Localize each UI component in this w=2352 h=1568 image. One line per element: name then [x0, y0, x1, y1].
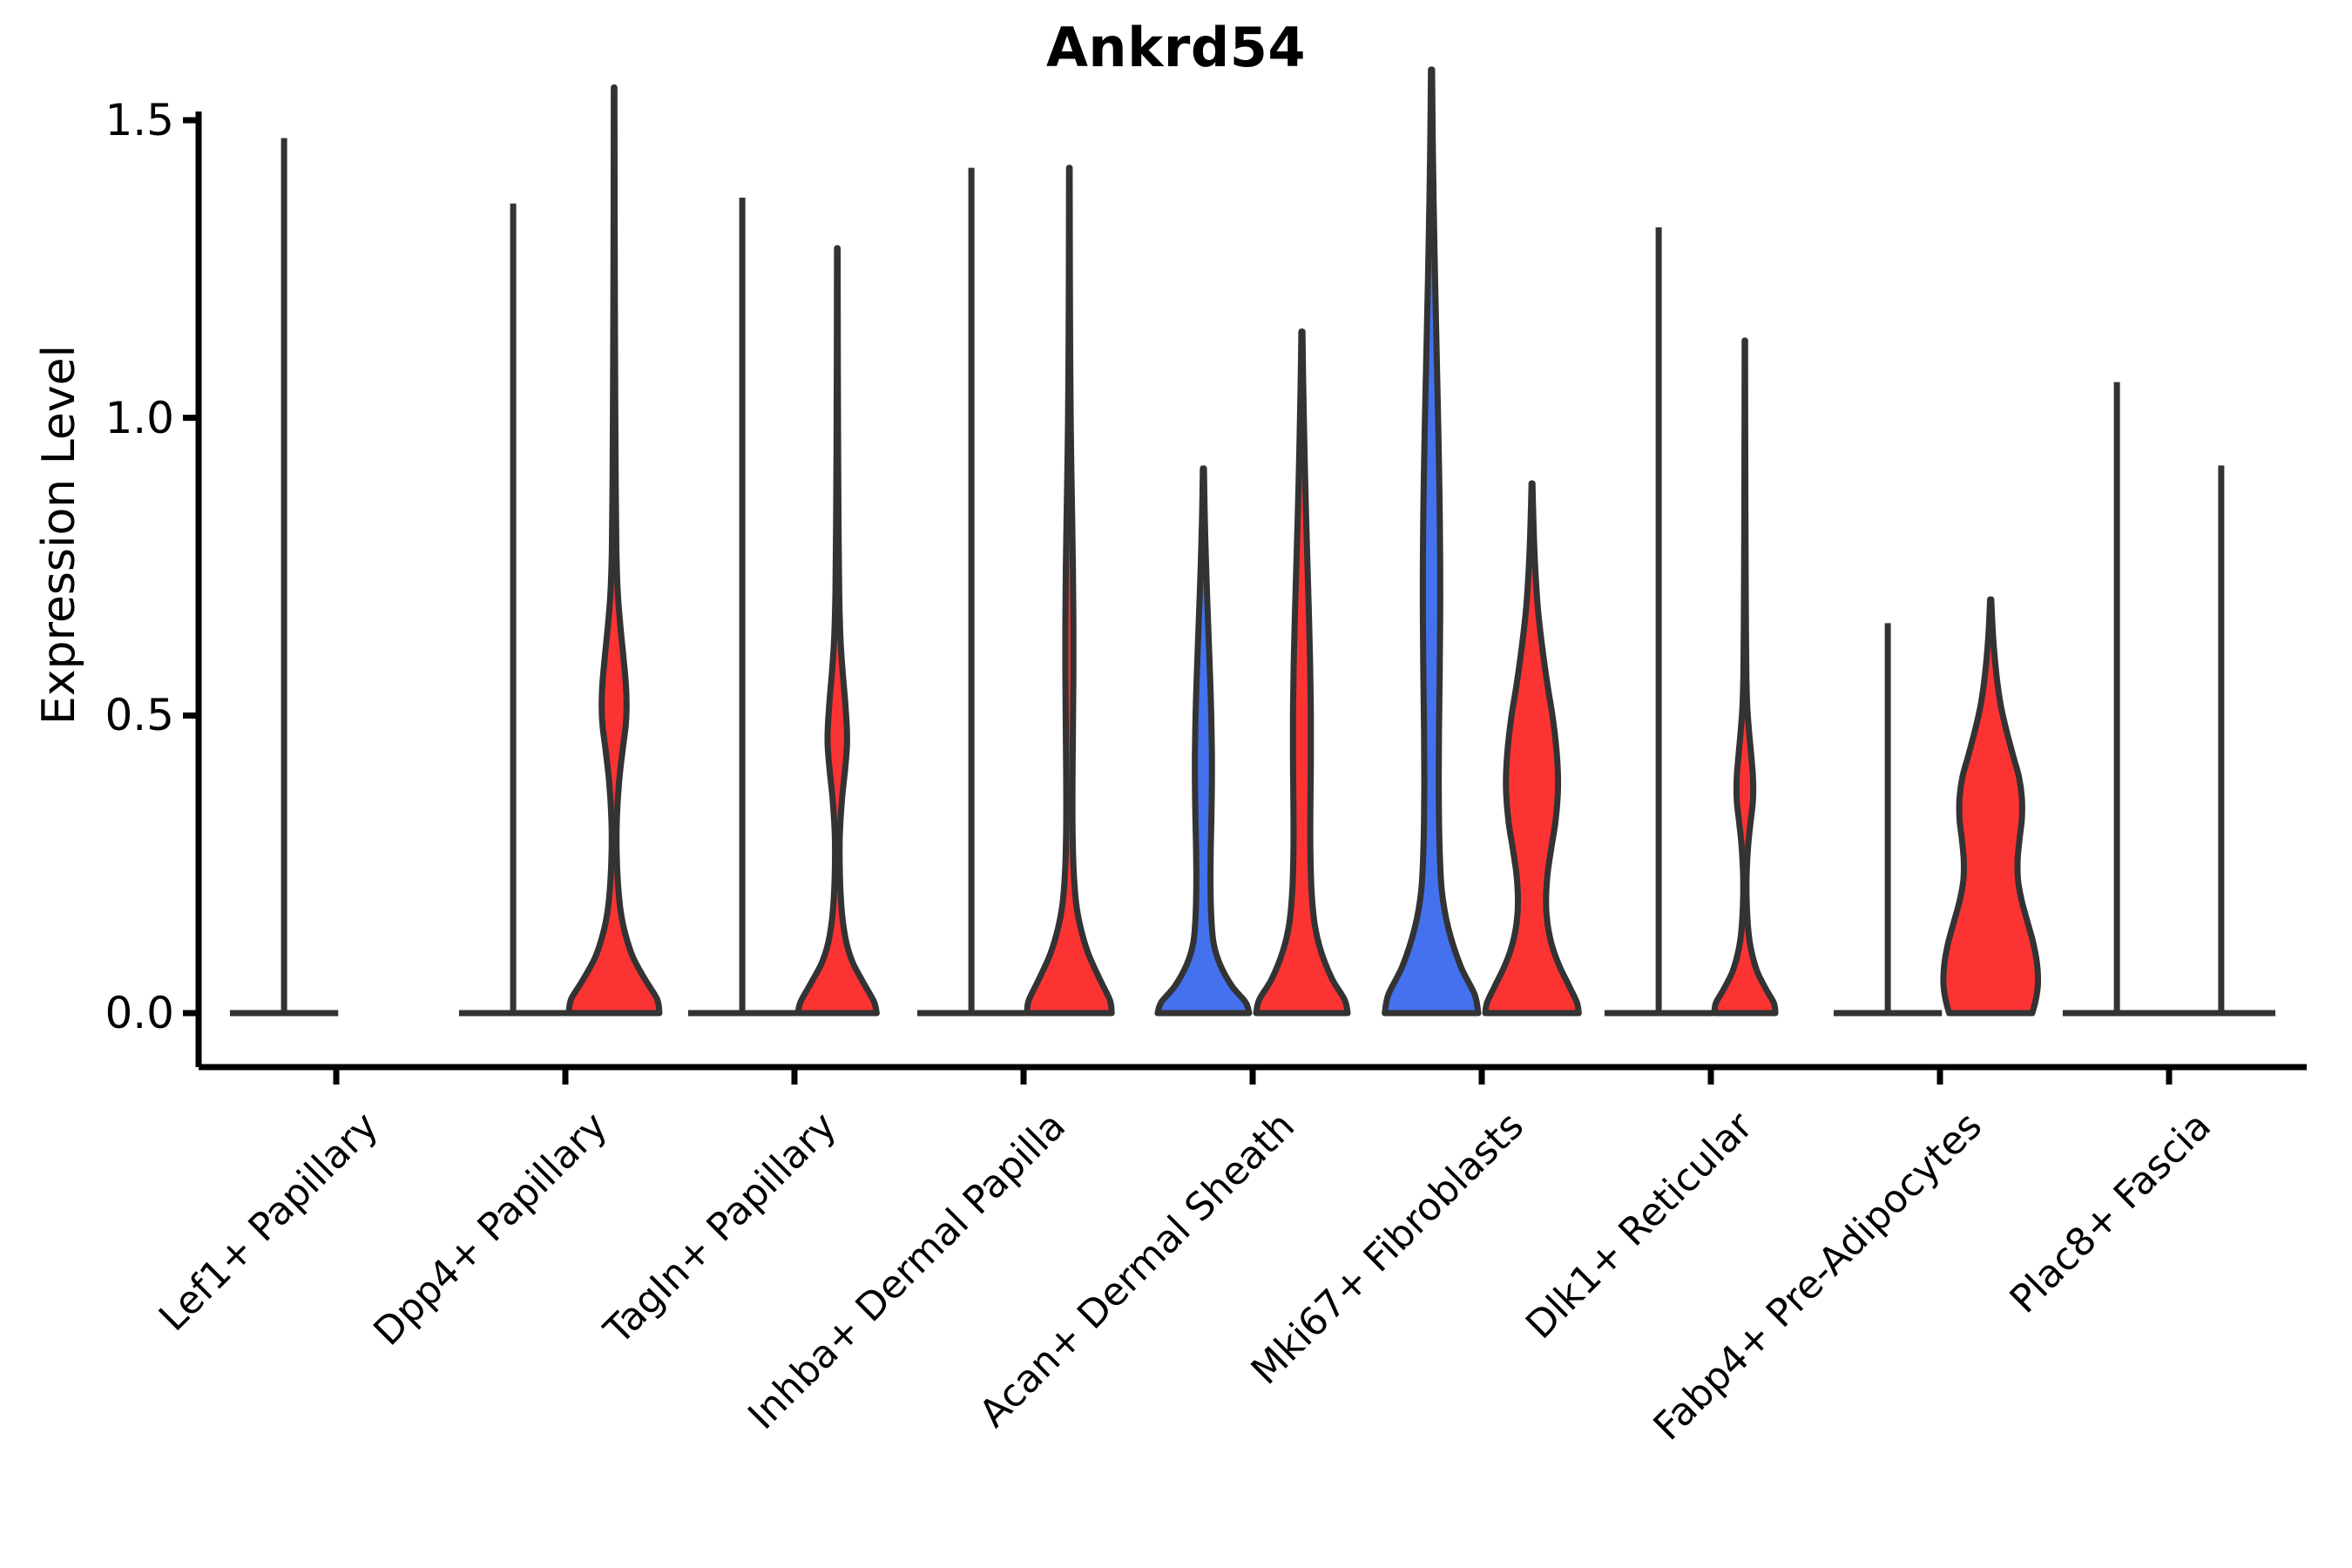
- violin-right-7: [1943, 599, 2038, 1013]
- violin-left-2: [688, 198, 796, 1013]
- violin-left-5: [1385, 70, 1478, 1013]
- violin-body: [569, 87, 659, 1013]
- violin-left-6: [1605, 227, 1713, 1013]
- violin-right-1: [569, 87, 659, 1013]
- violin-right-5: [1485, 483, 1578, 1013]
- violin-body: [1256, 332, 1348, 1013]
- violin-body: [1485, 483, 1578, 1013]
- violin-left-0: [230, 139, 338, 1014]
- violin-left-1: [459, 204, 567, 1013]
- violin-body: [798, 248, 876, 1013]
- violin-plot-figure: Ankrd54 Expression Level 0.00.51.01.5 Le…: [0, 0, 2352, 1568]
- violin-left-4: [1158, 469, 1249, 1013]
- violin-right-3: [1027, 168, 1112, 1013]
- violin-body: [1027, 168, 1112, 1013]
- violin-body: [1385, 70, 1478, 1013]
- violin-left-8: [2063, 382, 2171, 1013]
- violin-right-6: [1714, 341, 1775, 1013]
- violin-right-8: [2167, 465, 2275, 1013]
- violin-right-4: [1256, 332, 1348, 1013]
- violin-body: [1158, 469, 1249, 1013]
- violin-plot-canvas: [0, 0, 2352, 1568]
- violin-body: [1943, 599, 2038, 1013]
- violin-left-3: [917, 168, 1025, 1013]
- violin-right-2: [798, 248, 876, 1013]
- violin-body: [1714, 341, 1775, 1013]
- violin-left-7: [1834, 623, 1942, 1013]
